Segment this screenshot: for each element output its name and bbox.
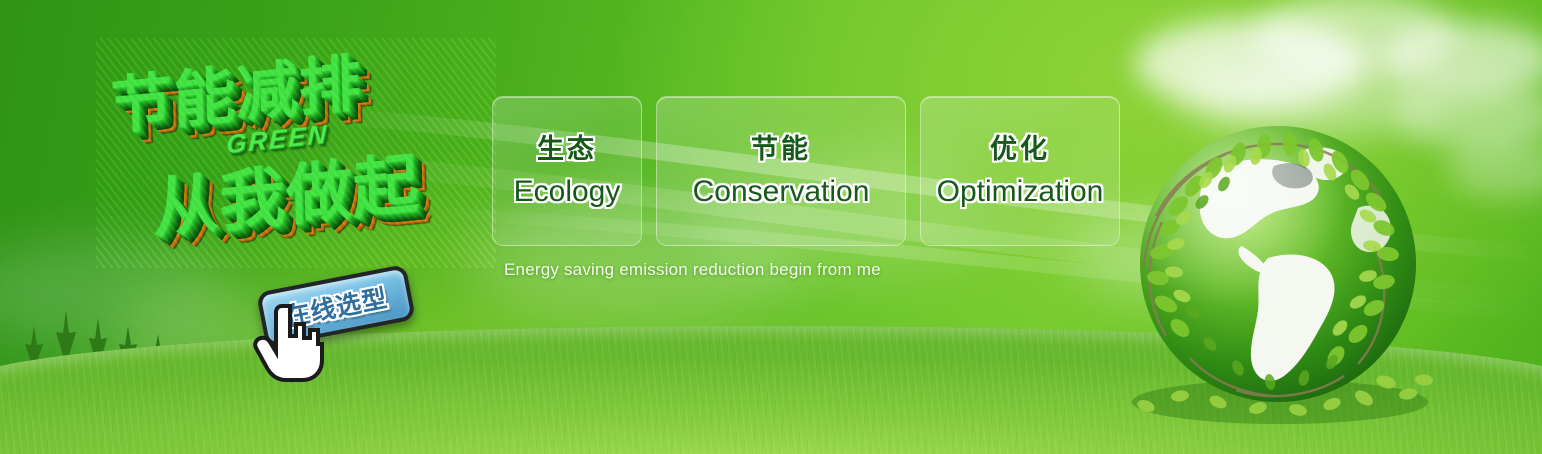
feature-card-en-label: Optimization (937, 177, 1104, 207)
feature-card-en-label: Ecology (514, 177, 621, 207)
tagline: Energy saving emission reduction begin f… (504, 260, 881, 280)
cloud-icon (1448, 140, 1542, 198)
headline-group: 节能减排 GREEN 从我做起 (96, 38, 496, 268)
cloud-icon (1382, 22, 1542, 96)
feature-card-cn-label: 生态 (537, 136, 597, 163)
online-selection-cta[interactable]: 在线选型 (252, 272, 432, 342)
cloud-icon (1255, 0, 1455, 74)
leafy-green-globe-icon (1118, 96, 1448, 426)
feature-card-en-label: Conservation (693, 177, 870, 207)
feature-card-cn-label: 优化 (990, 136, 1050, 163)
feature-card-ecology[interactable]: 生态 Ecology (492, 96, 642, 246)
pointing-hand-cursor-icon (252, 302, 330, 384)
feature-card-optimization[interactable]: 优化 Optimization (920, 96, 1120, 246)
feature-card-conservation[interactable]: 节能 Conservation (656, 96, 906, 246)
feature-cards: 生态 Ecology 节能 Conservation 优化 Optimizati… (492, 96, 1120, 246)
eco-banner: 节能减排 GREEN 从我做起 在线选型 生态 Ecology 节能 Conse… (0, 0, 1542, 454)
feature-card-cn-label: 节能 (751, 136, 811, 163)
